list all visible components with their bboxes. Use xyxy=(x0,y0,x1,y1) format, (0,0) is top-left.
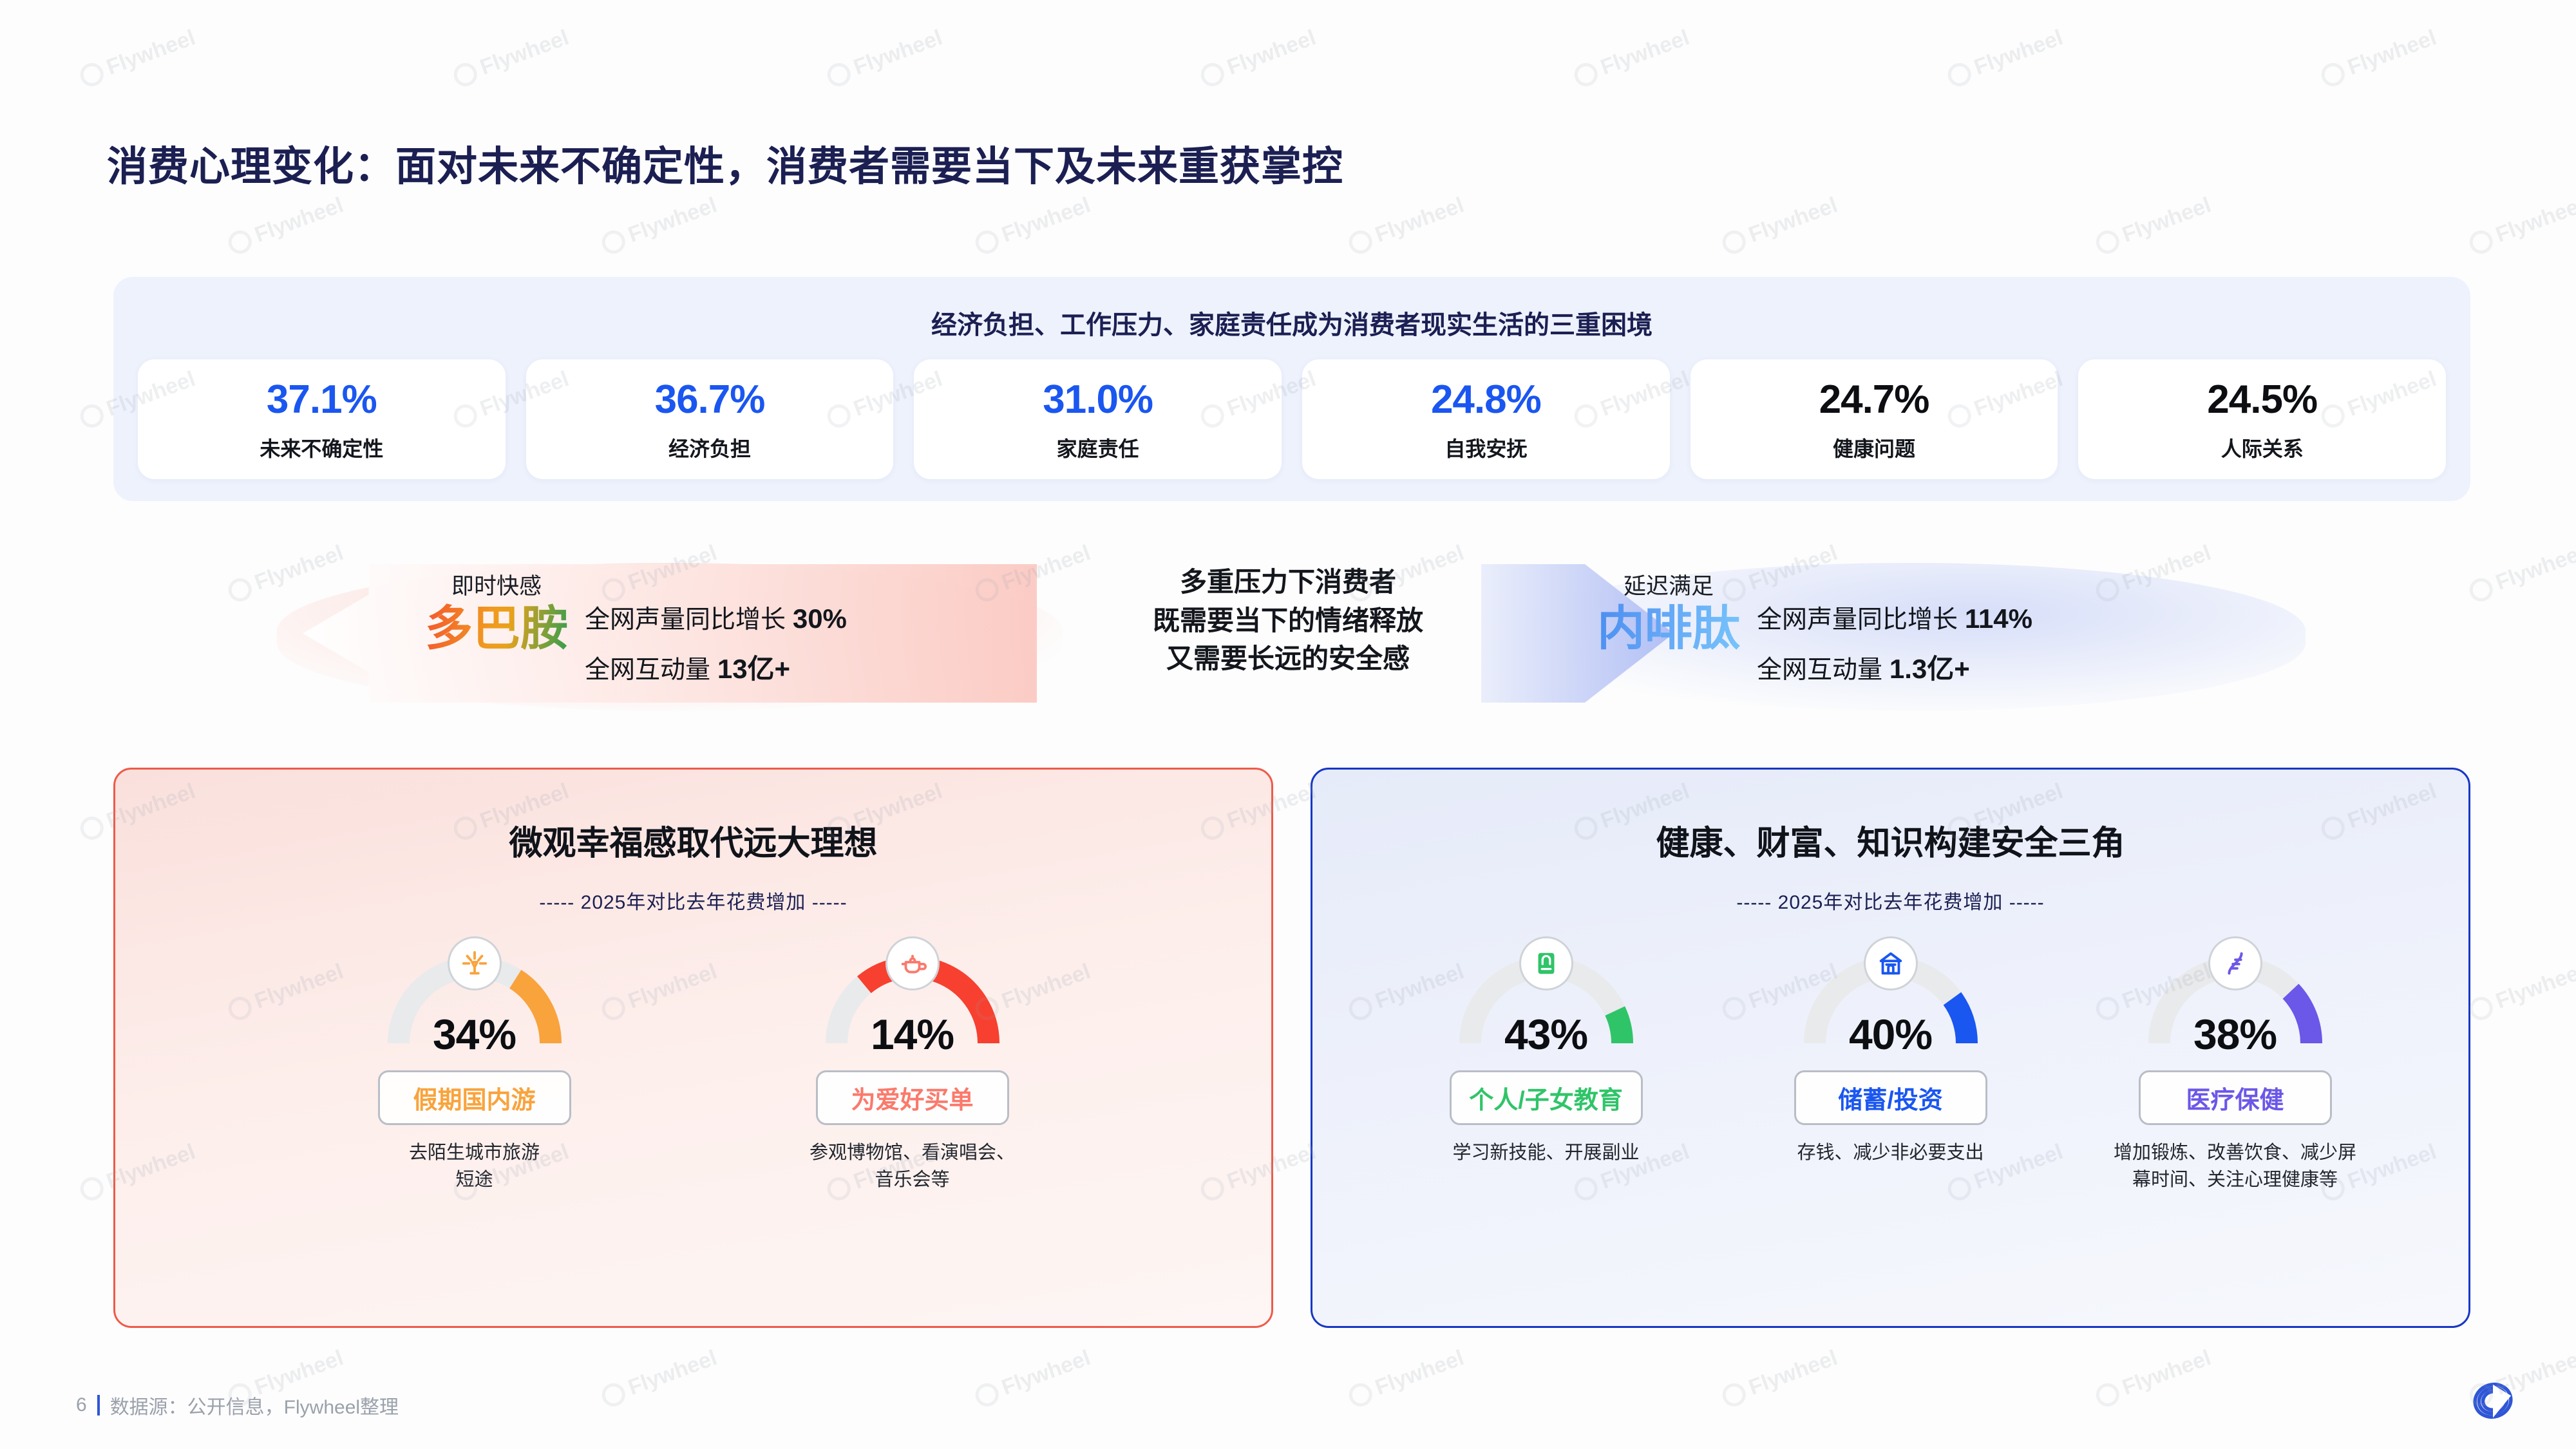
watermark: Flywheel xyxy=(824,25,946,90)
footer-source: 数据源：公开信息，Flywheel整理 xyxy=(110,1391,399,1419)
card-title: 健康、财富、知识构建安全三角 xyxy=(1312,816,2468,864)
stat-value: 36.7% xyxy=(655,377,765,422)
stat-card: 24.5%人际关系 xyxy=(2078,359,2446,479)
stat-value: 31.0% xyxy=(1043,377,1153,422)
stat-card: 37.1%未来不确定性 xyxy=(138,359,506,479)
gauge-dial: 43% xyxy=(1450,940,1643,1075)
watermark: Flywheel xyxy=(2466,959,2576,1024)
insight-card: 健康、财富、知识构建安全三角----- 2025年对比去年花费增加 -----4… xyxy=(1311,768,2470,1328)
card-title: 微观幸福感取代远大理想 xyxy=(115,816,1271,864)
gauge-dial: 14% xyxy=(816,940,1009,1075)
watermark: Flywheel xyxy=(1719,193,1841,258)
slide: 消费心理变化：面对未来不确定性，消费者需要当下及未来重获掌控 经济负担、工作压力… xyxy=(0,0,2576,1449)
footer-divider xyxy=(97,1395,100,1416)
dopamine-stat-engagement: 全网互动量 13亿+ xyxy=(585,644,847,694)
watermark: Flywheel xyxy=(1197,25,1320,90)
watermark: Flywheel xyxy=(1719,1345,1841,1410)
fireworks-icon xyxy=(448,936,502,990)
gauge-item: 38%医疗保健增加锻炼、改善饮食、减少屏幕时间、关注心理健康等 xyxy=(2097,940,2374,1193)
gauge-description-line: 短途 xyxy=(339,1166,610,1193)
watermark: Flywheel xyxy=(1345,193,1468,258)
gauge-description-line: 幕时间、关注心理健康等 xyxy=(2100,1166,2371,1193)
gauge-dial: 40% xyxy=(1794,940,1987,1075)
gauge-percent: 34% xyxy=(378,1010,571,1059)
stat-card: 36.7%经济负担 xyxy=(526,359,894,479)
gauge-dial: 34% xyxy=(378,940,571,1075)
gauge-label-pill: 医疗保健 xyxy=(2139,1070,2332,1125)
stat-label: 人际关系 xyxy=(2221,433,2304,462)
watermark: Flywheel xyxy=(2092,193,2215,258)
banner-heading: 经济负担、工作压力、家庭责任成为消费者现实生活的三重困境 xyxy=(113,304,2470,341)
stat-value: 24.5% xyxy=(2207,377,2317,422)
gauge-label-pill: 个人/子女教育 xyxy=(1450,1070,1643,1125)
page-number: 6 xyxy=(76,1394,87,1416)
gauge-item: 40%储蓄/投资存钱、减少非必要支出 xyxy=(1752,940,2029,1193)
teapot-icon xyxy=(885,936,940,990)
gauge-description-line: 去陌生城市旅游 xyxy=(339,1139,610,1166)
stat-value: 24.8% xyxy=(1431,377,1541,422)
flywheel-logo-icon xyxy=(2468,1376,2518,1426)
gauge-description-line: 存钱、减少非必要支出 xyxy=(1756,1139,2026,1166)
gauge-label-pill: 储蓄/投资 xyxy=(1794,1070,1987,1125)
gauge-description: 学习新技能、开展副业 xyxy=(1411,1139,1681,1166)
gauge-row: 43%个人/子女教育学习新技能、开展副业40%储蓄/投资存钱、减少非必要支出38… xyxy=(1312,940,2468,1193)
dopamine-endorphin-band: 即时快感 多巴胺 全网声量同比增长 30% 全网互动量 13亿+ 多重压力下消费… xyxy=(0,541,2576,747)
page-title: 消费心理变化：面对未来不确定性，消费者需要当下及未来重获掌控 xyxy=(107,134,1343,193)
dopamine-stats: 全网声量同比增长 30% 全网互动量 13亿+ xyxy=(585,574,847,694)
endorphin-kicker: 延迟满足 xyxy=(1597,574,1740,600)
gauge-item: 14%为爱好买单参观博物馆、看演唱会、音乐会等 xyxy=(774,940,1051,1193)
gauge-description: 存钱、减少非必要支出 xyxy=(1756,1139,2026,1166)
insight-banner: 经济负担、工作压力、家庭责任成为消费者现实生活的三重困境 37.1%未来不确定性… xyxy=(113,277,2470,501)
insight-card: 微观幸福感取代远大理想----- 2025年对比去年花费增加 -----34%假… xyxy=(113,768,1273,1328)
endorphin-block: 延迟满足 内啡肽 全网声量同比增长 114% 全网互动量 1.3亿+ xyxy=(1597,574,2032,694)
endorphin-stats: 全网声量同比增长 114% 全网互动量 1.3亿+ xyxy=(1757,574,2032,694)
dopamine-names: 即时快感 多巴胺 xyxy=(425,574,568,658)
gauge-item: 43%个人/子女教育学习新技能、开展副业 xyxy=(1408,940,1685,1193)
stat-label: 经济负担 xyxy=(668,433,751,462)
watermark: Flywheel xyxy=(972,1345,1094,1410)
watermark: Flywheel xyxy=(2318,25,2440,90)
gauge-dial: 38% xyxy=(2139,940,2332,1075)
gauge-percent: 38% xyxy=(2139,1010,2332,1059)
gauge-description-line: 增加锻炼、改善饮食、减少屏 xyxy=(2100,1139,2371,1166)
dopamine-kicker: 即时快感 xyxy=(425,574,568,600)
watermark: Flywheel xyxy=(1345,1345,1468,1410)
center-message: 多重压力下消费者既需要当下的情绪释放又需要长远的安全感 xyxy=(1088,563,1488,678)
gauge-label-pill: 假期国内游 xyxy=(378,1070,571,1125)
gauge-percent: 43% xyxy=(1450,1010,1643,1059)
stat-label: 家庭责任 xyxy=(1057,433,1139,462)
gauge-item: 34%假期国内游去陌生城市旅游短途 xyxy=(336,940,613,1193)
endorphin-stat-engagement: 全网互动量 1.3亿+ xyxy=(1757,644,2032,694)
watermark: Flywheel xyxy=(1571,25,1693,90)
gauge-row: 34%假期国内游去陌生城市旅游短途14%为爱好买单参观博物馆、看演唱会、音乐会等 xyxy=(115,940,1271,1193)
watermark: Flywheel xyxy=(1944,25,2067,90)
dopamine-stat-voice: 全网声量同比增长 30% xyxy=(585,594,847,644)
gauge-percent: 40% xyxy=(1794,1010,1987,1059)
gauge-description: 去陌生城市旅游短途 xyxy=(339,1139,610,1193)
stat-label: 未来不确定性 xyxy=(260,433,383,462)
stat-card-row: 37.1%未来不确定性36.7%经济负担31.0%家庭责任24.8%自我安抚24… xyxy=(138,359,2446,479)
stat-label: 自我安抚 xyxy=(1444,433,1527,462)
gauge-percent: 14% xyxy=(816,1010,1009,1059)
center-message-line-0: 多重压力下消费者 xyxy=(1088,563,1488,601)
stat-value: 37.1% xyxy=(267,377,377,422)
gauge-description-line: 参观博物馆、看演唱会、 xyxy=(777,1139,1048,1166)
watermark: Flywheel xyxy=(598,193,721,258)
watermark: Flywheel xyxy=(2092,1345,2215,1410)
center-message-line-1: 既需要当下的情绪释放 xyxy=(1088,601,1488,640)
stat-label: 健康问题 xyxy=(1833,433,1915,462)
gauge-description-line: 学习新技能、开展副业 xyxy=(1411,1139,1681,1166)
gauge-label-pill: 为爱好买单 xyxy=(816,1070,1009,1125)
book-icon xyxy=(1519,936,1573,990)
center-message-line-2: 又需要长远的安全感 xyxy=(1088,639,1488,678)
gauge-description: 增加锻炼、改善饮食、减少屏幕时间、关注心理健康等 xyxy=(2100,1139,2371,1193)
gauge-description-line: 音乐会等 xyxy=(777,1166,1048,1193)
card-subtitle: ----- 2025年对比去年花费增加 ----- xyxy=(115,886,1271,914)
dna-icon xyxy=(2208,936,2262,990)
stat-card: 31.0%家庭责任 xyxy=(914,359,1282,479)
dopamine-name: 多巴胺 xyxy=(425,600,568,658)
watermark: Flywheel xyxy=(225,193,347,258)
endorphin-stat-voice: 全网声量同比增长 114% xyxy=(1757,594,2032,644)
stat-value: 24.7% xyxy=(1819,377,1929,422)
watermark: Flywheel xyxy=(598,1345,721,1410)
insight-cards: 微观幸福感取代远大理想----- 2025年对比去年花费增加 -----34%假… xyxy=(113,768,2470,1328)
watermark: Flywheel xyxy=(77,25,199,90)
watermark: Flywheel xyxy=(450,25,573,90)
stat-card: 24.7%健康问题 xyxy=(1690,359,2058,479)
endorphin-name: 内啡肽 xyxy=(1597,600,1740,658)
card-subtitle: ----- 2025年对比去年花费增加 ----- xyxy=(1312,886,2468,914)
watermark: Flywheel xyxy=(972,193,1094,258)
footer: 6 数据源：公开信息，Flywheel整理 xyxy=(76,1391,399,1419)
dopamine-block: 即时快感 多巴胺 全网声量同比增长 30% 全网互动量 13亿+ xyxy=(425,574,847,694)
watermark: Flywheel xyxy=(2466,193,2576,258)
bank-house-icon xyxy=(1864,936,1918,990)
stat-card: 24.8%自我安抚 xyxy=(1302,359,1670,479)
endorphin-names: 延迟满足 内啡肽 xyxy=(1597,574,1740,658)
gauge-description: 参观博物馆、看演唱会、音乐会等 xyxy=(777,1139,1048,1193)
